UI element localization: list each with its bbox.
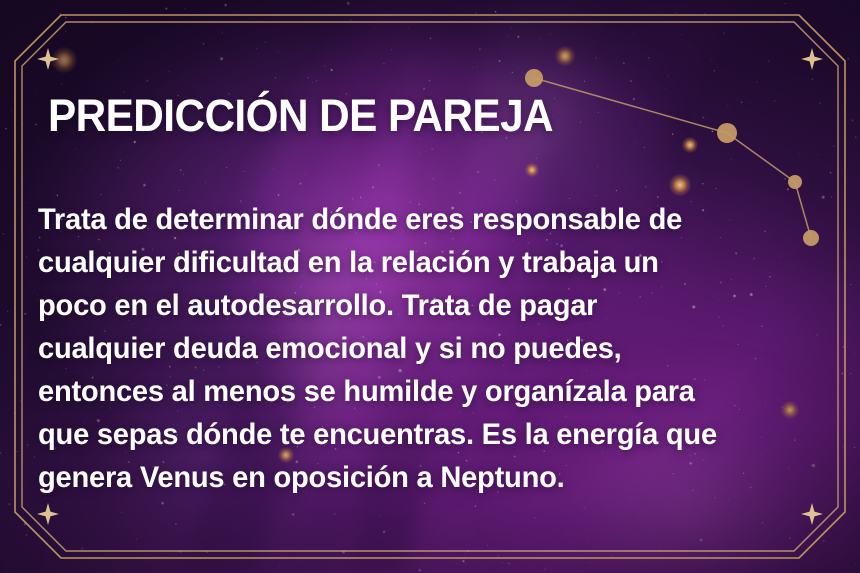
prediction-body-text: Trata de determinar dónde eres responsab… [38,198,814,499]
poster-content: PREDICCIÓN DE PAREJA Trata de determinar… [0,0,860,573]
body-line: poco en el autodesarrollo. Trata de paga… [38,289,597,322]
body-line: entonces al menos se humilde y organízal… [38,375,695,408]
body-line: que sepas dónde te encuentras. Es la ene… [38,418,717,451]
prediction-poster: PREDICCIÓN DE PAREJA Trata de determinar… [0,0,860,573]
body-line: cualquier dificultad en la relación y tr… [38,246,659,279]
body-line: Trata de determinar dónde eres responsab… [38,203,682,236]
body-line: cualquier deuda emocional y si no puedes… [38,332,622,365]
body-line: genera Venus en oposición a Neptuno. [38,461,564,494]
page-title: PREDICCIÓN DE PAREJA [48,92,553,140]
